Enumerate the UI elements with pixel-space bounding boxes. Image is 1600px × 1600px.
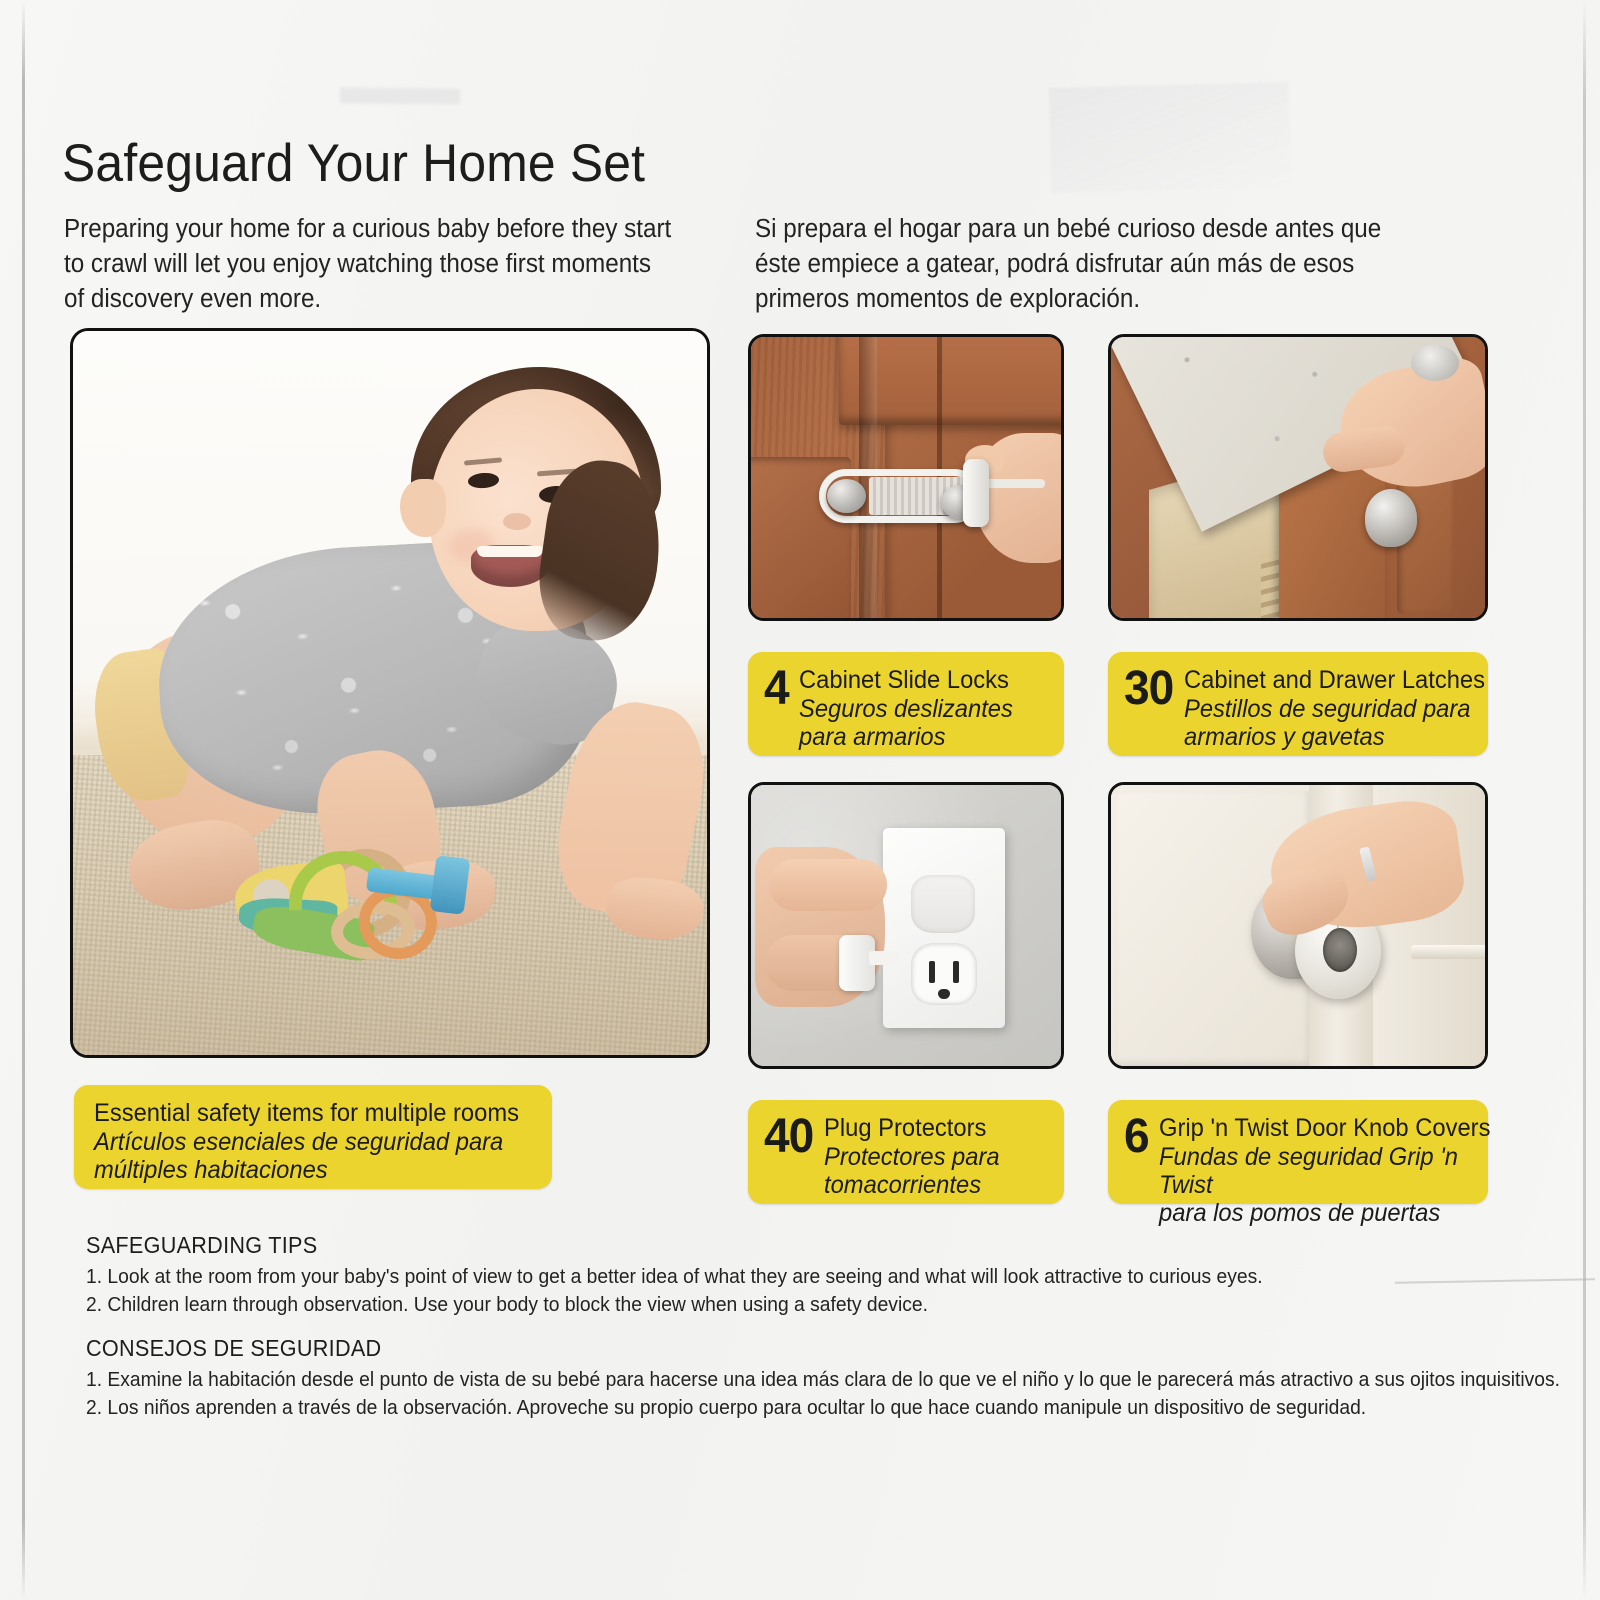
baby-teeth [477,546,543,557]
outlet-ground-slot [938,989,950,999]
callout-spanish-line2: para los pomos de puertas [1159,1199,1490,1227]
safeguarding-tips-section: SAFEGUARDING TIPS 1. Look at the room fr… [86,1232,1516,1422]
toy-blue-cap [430,855,471,915]
plug-protector-prongs [869,951,899,965]
callout-plug-protectors: 40 Plug Protectors Protectores para toma… [748,1100,1064,1204]
quantity-badge: 6 [1124,1112,1149,1162]
product-photo-cabinet-slide-lock [748,334,1064,621]
door-trim-molding [1411,945,1488,959]
hand-finger-upper [769,859,887,911]
callout-spanish-line2: tomacorrientes [824,1171,1000,1199]
callout-hero-spanish-line1: Artículos esenciales de seguridad para [94,1128,519,1156]
callout-cabinet-drawer-latches: 30 Cabinet and Drawer Latches Pestillos … [1108,652,1488,756]
callout-hero-english: Essential safety items for multiple room… [94,1099,519,1128]
baby-nose [503,513,531,530]
drawer-cup-pull-upper [1411,345,1459,381]
tape-residue-artifact [1049,82,1292,193]
toy-keys [201,843,461,961]
product-photo-door-knob-cover [1108,782,1488,1069]
tips-heading-spanish: CONSEJOS DE SEGURIDAD [86,1335,1430,1362]
tips-heading-english: SAFEGUARDING TIPS [86,1232,1430,1259]
callout-english: Cabinet and Drawer Latches [1184,666,1485,695]
callout-english: Cabinet Slide Locks [799,666,1013,695]
callout-spanish-line2: para armarios [799,723,1013,751]
outlet-slot-left [929,961,935,983]
intro-text-spanish: Si prepara el hogar para un bebé curioso… [755,212,1382,317]
tips-item-english-2: 2. Children learn through observation. U… [86,1291,1430,1319]
callout-hero-text: Essential safety items for multiple room… [94,1097,541,1184]
callout-door-knob-covers: 6 Grip 'n Twist Door Knob Covers Fundas … [1108,1100,1488,1204]
outlet-covered-socket [911,875,975,933]
callout-english: Grip 'n Twist Door Knob Covers [1159,1114,1490,1143]
callout-hero-spanish-line2: múltiples habitaciones [94,1156,519,1184]
baby-ear [400,479,446,537]
callout-spanish-line2: armarios y gavetas [1184,723,1485,751]
callout-text: Cabinet and Drawer Latches Pestillos de … [1184,664,1501,751]
callout-text: Plug Protectors Protectores para tomacor… [824,1112,1009,1199]
callout-english: Plug Protectors [824,1114,1000,1143]
callout-spanish-line1: Pestillos de seguridad para [1184,695,1485,723]
callout-cabinet-slide-locks: 4 Cabinet Slide Locks Seguros deslizante… [748,652,1064,756]
callout-spanish-line1: Fundas de seguridad Grip 'n Twist [1159,1143,1490,1199]
quantity-badge: 40 [764,1112,813,1162]
scuff-artifact [340,87,460,104]
callout-spanish-line1: Seguros deslizantes [799,695,1013,723]
product-package-back-panel: Safeguard Your Home Set Preparing your h… [0,0,1600,1600]
door-knob-cover-opening [1323,928,1357,972]
hero-photo-crawling-baby [70,328,710,1058]
callout-text: Cabinet Slide Locks Seguros deslizantes … [799,664,1024,751]
package-left-edge [22,0,25,1600]
package-right-edge [1583,0,1586,1600]
quantity-badge: 30 [1124,664,1173,714]
tips-item-spanish-1: 1. Examine la habitación desde el punto … [86,1366,1430,1394]
cabinet-knob-left [827,479,866,513]
tips-item-english-1: 1. Look at the room from your baby's poi… [86,1263,1430,1291]
callout-text: Grip 'n Twist Door Knob Covers Fundas de… [1159,1112,1508,1227]
slide-lock-clip [963,459,989,527]
slide-lock-arm [983,479,1045,488]
quantity-badge: 4 [764,664,789,714]
page-title: Safeguard Your Home Set [62,133,645,194]
product-photo-drawer-latch [1108,334,1488,621]
outlet-slot-right [953,961,959,983]
tips-item-spanish-2: 2. Los niños aprenden a través de la obs… [86,1394,1430,1422]
product-photo-plug-protector [748,782,1064,1069]
callout-hero: Essential safety items for multiple room… [74,1085,552,1189]
callout-spanish-line1: Protectores para [824,1143,1000,1171]
tips-spacer [86,1319,1516,1335]
drawer-cup-pull [1365,489,1417,547]
intro-text-english: Preparing your home for a curious baby b… [64,212,672,317]
